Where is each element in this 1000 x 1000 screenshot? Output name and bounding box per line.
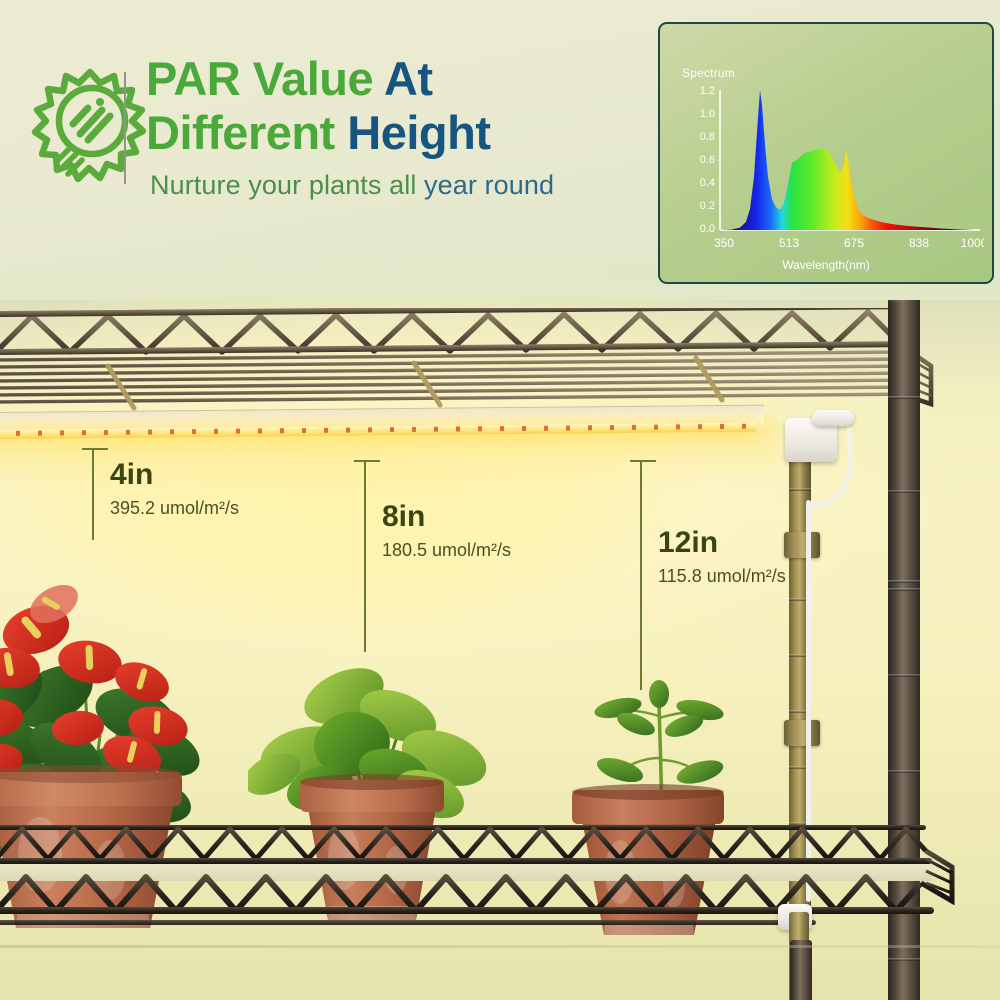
- y-tick-0_0: 0.0: [700, 223, 715, 235]
- shelf-post-dark-lower: [790, 940, 812, 1000]
- subtitle-part-2: year round: [424, 170, 554, 200]
- product-photo: 4in 395.2 umol/m²/s 8in 180.5 umol/m²/s …: [0, 300, 1000, 1000]
- floor-line: [0, 945, 1000, 948]
- subtitle-part-1: Nurture your plants all: [150, 170, 424, 200]
- title-line-2-blue: Height: [347, 106, 490, 159]
- x-tick-1000: 1000: [961, 236, 984, 250]
- spectrum-curve: [720, 90, 974, 230]
- spectrum-chart-plot: 1.2 1.0 0.8 0.6 0.4 0.2 0.0 350 513 675 …: [674, 82, 984, 257]
- marker-cap: [82, 448, 108, 450]
- title-line-1-blue: At: [384, 52, 433, 105]
- x-tick-675: 675: [844, 236, 864, 250]
- title-divider: [124, 72, 126, 184]
- marker-height-label: 8in: [382, 502, 425, 532]
- y-tick-0_2: 0.2: [700, 200, 715, 212]
- marker-par-value: 180.5 umol/m²/s: [382, 540, 511, 560]
- grow-light-bulb-icon: [30, 66, 150, 188]
- post-cap: [888, 300, 920, 302]
- y-tick-0_6: 0.6: [700, 154, 715, 166]
- marker-line: [364, 460, 366, 652]
- post-collar-lower: [784, 720, 820, 746]
- product-infographic: PAR Value At Different Height Nurture yo…: [0, 0, 1000, 1000]
- x-tick-350: 350: [714, 236, 734, 250]
- power-cable-bend: [806, 428, 852, 508]
- wire-shelf-bottom: [0, 825, 956, 935]
- y-tick-0_8: 0.8: [700, 131, 715, 143]
- cable-connector-neck: [812, 410, 854, 426]
- marker-par-value: 115.8 umol/m²/s: [658, 566, 786, 586]
- spectrum-chart-card: Spectrum: [658, 22, 994, 284]
- wire-shelf-top: [0, 308, 936, 420]
- marker-cap: [630, 460, 656, 462]
- post-collar-upper: [784, 532, 820, 558]
- title-line-2-green: Different: [146, 106, 347, 159]
- marker-cap: [354, 460, 380, 462]
- title-line-1-green: PAR Value: [146, 52, 384, 105]
- spectrum-chart-title: Spectrum: [682, 66, 735, 80]
- x-tick-513: 513: [779, 236, 799, 250]
- y-tick-0_4: 0.4: [700, 177, 715, 189]
- spectrum-x-axis-label: Wavelength(nm): [660, 258, 992, 272]
- y-tick-1_2: 1.2: [700, 85, 715, 97]
- page-subtitle: Nurture your plants all year round: [150, 170, 554, 201]
- x-tick-838: 838: [909, 236, 929, 250]
- y-tick-1_0: 1.0: [700, 108, 715, 120]
- marker-height-label: 4in: [110, 460, 153, 490]
- marker-height-label: 12in: [658, 528, 718, 558]
